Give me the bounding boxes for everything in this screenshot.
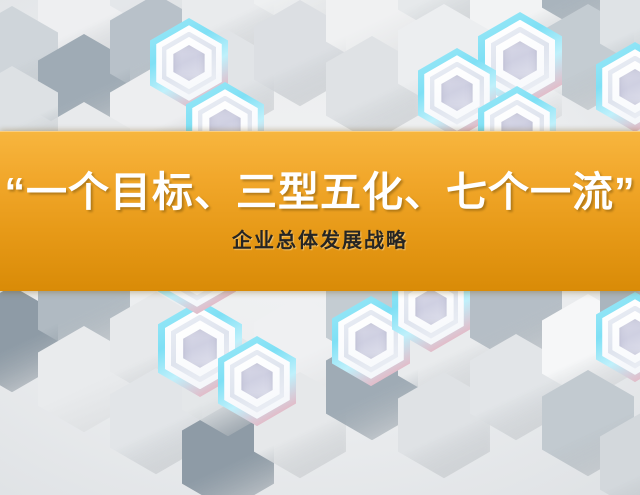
glowing-hexagon <box>596 42 640 132</box>
hexagon-ring <box>176 320 225 376</box>
background-hexagon <box>398 0 490 36</box>
hexagon-ring <box>619 69 640 105</box>
glowing-hexagon <box>150 18 228 108</box>
background-hexagon <box>470 36 562 142</box>
background-hexagon <box>110 0 202 100</box>
background-hexagon <box>398 372 490 478</box>
hexagon-ring <box>491 27 550 95</box>
background-hexagon <box>182 404 274 495</box>
hexagon-ring <box>619 319 640 355</box>
hexagon-ring <box>150 18 228 108</box>
hexagon-ring <box>230 350 285 413</box>
background-hexagon <box>542 294 634 400</box>
hexagon-ring <box>234 355 279 407</box>
background-hexagon <box>254 296 346 402</box>
hexagon-ring <box>344 310 399 373</box>
glowing-hexagon <box>596 292 640 382</box>
background-hexagon <box>326 334 418 440</box>
background-hexagon <box>542 0 634 34</box>
hexagon-ring <box>332 296 410 386</box>
glowing-hexagon <box>158 300 242 397</box>
background-hexagon <box>254 0 346 106</box>
background-hexagon <box>110 368 202 474</box>
hexagon-ring <box>478 12 562 109</box>
hexagon-ring <box>602 49 640 125</box>
hexagon-ring <box>485 20 556 101</box>
hexagon-ring <box>162 32 217 95</box>
hexagon-ring <box>156 25 222 101</box>
hexagon-ring <box>496 32 545 88</box>
hexagon-ring <box>596 42 640 132</box>
hexagon-ring <box>224 343 290 419</box>
background-hexagon <box>182 30 274 136</box>
hexagon-ring <box>165 308 236 389</box>
background-hexagon <box>254 372 346 478</box>
background-hexagon <box>182 330 274 436</box>
hexagon-ring <box>608 56 640 119</box>
background-hexagon <box>182 0 274 64</box>
background-hexagon <box>110 292 202 398</box>
hexagon-ring <box>415 289 446 325</box>
hexagon-ring <box>602 299 640 375</box>
hexagon-ring <box>430 62 485 125</box>
hexagon-ring <box>166 37 211 89</box>
background-hexagon <box>542 4 634 110</box>
hexagon-ring <box>470 2 571 118</box>
hexagon-ring <box>150 290 251 406</box>
background-hexagon <box>254 0 346 30</box>
background-hexagon <box>600 0 640 70</box>
background-hexagon <box>38 34 130 140</box>
hexagon-ring <box>348 315 393 367</box>
background-hexagon <box>38 0 130 72</box>
glowing-hexagon <box>418 48 496 138</box>
hexagon-ring <box>338 303 404 379</box>
hexagon-ring <box>173 45 204 81</box>
glowing-hexagon <box>218 336 296 426</box>
hexagon-ring <box>158 300 242 397</box>
hexagon-ring <box>588 33 640 141</box>
hexagon-ring <box>210 327 304 435</box>
hexagon-ring <box>324 287 418 395</box>
hexagon-ring <box>142 9 236 117</box>
background-hexagon <box>0 6 58 112</box>
background-hexagon <box>398 4 490 110</box>
hexagon-ring <box>418 48 496 138</box>
background-hexagon <box>600 410 640 495</box>
background-hexagon <box>398 296 490 402</box>
hexagon-ring <box>441 75 472 111</box>
background-hexagon <box>110 0 202 32</box>
hexagon-ring <box>171 315 230 383</box>
hexagon-ring <box>588 283 640 391</box>
hexagon-ring <box>355 323 386 359</box>
hexagon-ring <box>241 363 272 399</box>
hexagon-ring <box>424 55 490 131</box>
hexagon-ring <box>218 336 296 426</box>
hexagon-ring <box>608 306 640 369</box>
hexagon-ring <box>612 61 640 113</box>
page-title: “一个目标、三型五化、七个一流” <box>5 170 636 214</box>
presentation-slide: “一个目标、三型五化、七个一流” 企业总体发展战略 <box>0 0 640 495</box>
glowing-hexagon <box>478 12 562 109</box>
background-hexagon <box>0 286 58 392</box>
glowing-hexagon <box>332 296 410 386</box>
background-hexagon <box>326 0 418 68</box>
title-band: “一个目标、三型五化、七个一流” 企业总体发展战略 <box>0 131 640 291</box>
hexagon-ring <box>596 292 640 382</box>
background-hexagon <box>470 0 562 66</box>
hexagon-ring <box>183 329 217 368</box>
hexagon-ring <box>434 67 479 119</box>
background-hexagon <box>38 326 130 432</box>
hexagon-ring <box>612 311 640 363</box>
background-hexagon <box>542 370 634 476</box>
background-hexagon <box>470 334 562 440</box>
page-subtitle: 企业总体发展战略 <box>232 230 408 252</box>
background-hexagon <box>326 36 418 142</box>
hexagon-ring <box>503 41 537 80</box>
